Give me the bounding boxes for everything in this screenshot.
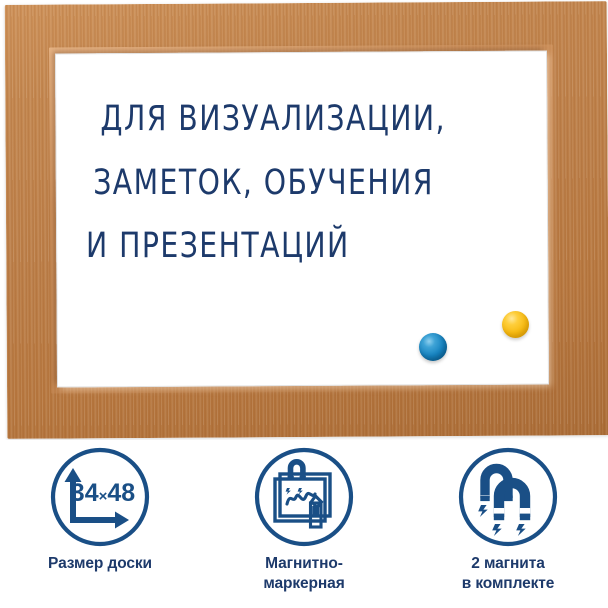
headline-line-3: И ПРЕЗЕНТАЦИЙ [86,215,473,279]
blue-magnet [419,333,447,361]
feature-label-two-magnets: 2 магнита в комплекте [462,554,555,594]
product-promo-image: ДЛЯ ВИЗУАЛИЗАЦИИ, ЗАМЕТОК, ОБУЧЕНИЯ И ПР… [0,0,608,608]
feature-strip: 34×48 Размер доски [0,440,608,608]
yellow-magnet [502,311,529,338]
whiteboard-photo: ДЛЯ ВИЗУАЛИЗАЦИИ, ЗАМЕТОК, ОБУЧЕНИЯ И ПР… [0,0,608,440]
headline-line-1: ДЛЯ ВИЗУАЛИЗАЦИИ, [86,88,473,152]
feature-label-board-size: Размер доски [48,554,152,574]
board-size-arrows-icon: 34×48 [47,444,153,550]
magnetic-marker-board-icon [251,444,357,550]
board-size-value: 34×48 [71,479,135,507]
feature-label-magnetic-marker: Магнитно- маркерная [263,554,344,594]
feature-board-size: 34×48 Размер доски [16,444,184,574]
feature-two-magnets: 2 магнита в комплекте [424,444,592,594]
feature-magnetic-marker: Магнитно- маркерная [220,444,388,594]
two-magnets-icon [455,444,561,550]
headline-line-2: ЗАМЕТОК, ОБУЧЕНИЯ [86,152,473,216]
board-headline: ДЛЯ ВИЗУАЛИЗАЦИИ, ЗАМЕТОК, ОБУЧЕНИЯ И ПР… [86,88,473,279]
